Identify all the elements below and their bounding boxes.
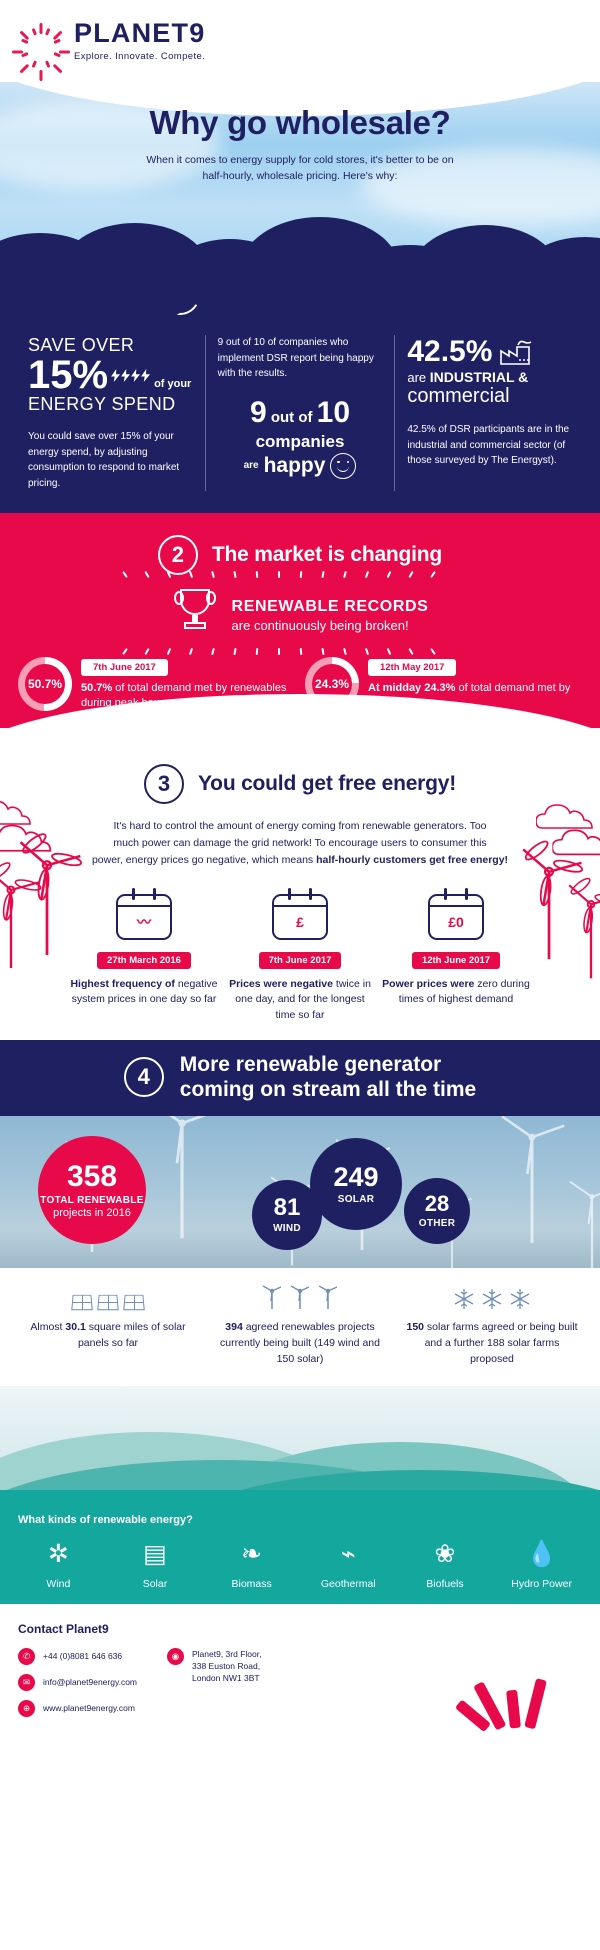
kind-label: Biomass bbox=[206, 1578, 298, 1590]
hills-illustration bbox=[0, 1386, 600, 1504]
wind-turbine-icon bbox=[565, 1175, 600, 1268]
donut-date: 12th May 2017 bbox=[368, 659, 456, 676]
section-market-changing: 2 The market is changing RENEWABLE RECOR… bbox=[0, 513, 600, 728]
sunburst-icon bbox=[452, 1648, 562, 1734]
bubble-label: TOTAL RENEWABLE bbox=[40, 1195, 143, 1206]
lightning-bolt-icon bbox=[111, 369, 150, 382]
renewable-stat: Almost 30.1 square miles of solar panels… bbox=[12, 1284, 204, 1367]
footer-address-row: ◉ Planet9, 3rd Floor, 338 Euston Road, L… bbox=[167, 1648, 261, 1685]
card-date: 7th June 2017 bbox=[259, 952, 342, 969]
renewable-count-bubble: 249SOLAR bbox=[310, 1138, 402, 1230]
hill-base bbox=[0, 1490, 600, 1504]
renewable-stat: 150 solar farms agreed or being built an… bbox=[396, 1284, 588, 1367]
bubble-sublabel: projects in 2016 bbox=[53, 1207, 131, 1219]
save-percent: 15% bbox=[28, 356, 108, 394]
location-pin-icon: ◉ bbox=[167, 1648, 184, 1665]
stat-companies: companies bbox=[218, 432, 383, 452]
save-ofyour: of your bbox=[154, 379, 191, 389]
kind-label: Solar bbox=[109, 1578, 201, 1590]
brand-text: PLANET9 Explore. Innovate. Compete. bbox=[74, 20, 205, 62]
section3-number: 3 bbox=[144, 764, 184, 804]
sunburst-icon bbox=[18, 18, 64, 64]
kind-label: Biofuels bbox=[399, 1578, 491, 1590]
stat-icons bbox=[212, 1284, 388, 1310]
wind-turbine-icon bbox=[317, 1284, 339, 1310]
wind-turbine-icon bbox=[142, 1116, 222, 1247]
card-text: Prices were negative twice in one day, a… bbox=[226, 977, 374, 1024]
renewable-stats: Almost 30.1 square miles of solar panels… bbox=[0, 1268, 600, 1385]
kind-item-wind[interactable]: ✲Wind bbox=[12, 1538, 104, 1590]
stat-happy: happy bbox=[264, 454, 326, 478]
save-energy-spend: ENERGY SPEND bbox=[28, 394, 193, 415]
section-free-energy: 3 You could get free energy! It's hard t… bbox=[0, 728, 600, 1040]
free-energy-cards: 〰27th March 2016Highest frequency of neg… bbox=[0, 870, 600, 1024]
section4-header: 4 More renewable generator coming on str… bbox=[0, 1040, 600, 1116]
renewable-count-bubble: 28OTHER bbox=[404, 1178, 470, 1244]
dsr-body: 9 out of 10 of companies who implement D… bbox=[218, 335, 383, 382]
bubble-label: OTHER bbox=[419, 1218, 456, 1229]
donut-date: 7th June 2017 bbox=[81, 659, 168, 676]
wind-turbine-icon bbox=[261, 1284, 283, 1310]
card-text: Power prices were zero during times of h… bbox=[382, 977, 530, 1009]
wind-turbine-icon bbox=[289, 1284, 311, 1310]
renewable-stat: 394 agreed renewables projects currently… bbox=[204, 1284, 396, 1367]
phone-icon: ✆ bbox=[18, 1648, 35, 1665]
kind-item-geothermal[interactable]: ⌁Geothermal bbox=[302, 1538, 394, 1590]
wind-farm-photo: 358TOTAL RENEWABLEprojects in 201681WIND… bbox=[0, 1116, 600, 1268]
footer-website: www.planet9energy.com bbox=[43, 1702, 135, 1714]
bubble-label: WIND bbox=[273, 1223, 301, 1234]
brand-name: PLANET9 bbox=[74, 20, 205, 47]
solar-panel-icon bbox=[97, 1295, 119, 1310]
kind-label: Geothermal bbox=[302, 1578, 394, 1590]
kind-item-solar[interactable]: ▤Solar bbox=[109, 1538, 201, 1590]
footer-address-col: ◉ Planet9, 3rd Floor, 338 Euston Road, L… bbox=[167, 1648, 261, 1726]
kinds-title: What kinds of renewable energy? bbox=[0, 1514, 600, 1526]
calendar-waveform-icon: 〰 bbox=[116, 888, 172, 940]
stat-outof: out of bbox=[271, 409, 313, 426]
footer-phone: +44 (0)8081 646 636 bbox=[43, 1650, 122, 1662]
card-text: Highest frequency of negative system pri… bbox=[70, 977, 218, 1009]
renewable-kinds-band: What kinds of renewable energy? ✲Wind▤So… bbox=[0, 1504, 600, 1604]
snowflake-icon bbox=[481, 1288, 503, 1310]
footer-email: info@planet9energy.com bbox=[43, 1676, 137, 1688]
footer-phone-row[interactable]: ✆ +44 (0)8081 646 636 bbox=[18, 1648, 137, 1665]
industrial-body: 42.5% of DSR participants are in the ind… bbox=[407, 422, 572, 469]
industrial-percent: 42.5% bbox=[407, 335, 492, 369]
section3-header: 3 You could get free energy! bbox=[0, 750, 600, 804]
free-energy-card: £012th June 2017Power prices were zero d… bbox=[382, 888, 530, 1024]
globe-leaf-icon: ❀ bbox=[399, 1538, 491, 1572]
stat-text: 394 agreed renewables projects currently… bbox=[212, 1320, 388, 1367]
stat-icons bbox=[20, 1284, 196, 1310]
free-energy-card: £7th June 2017Prices were negative twice… bbox=[226, 888, 374, 1024]
stat-text: 150 solar farms agreed or being built an… bbox=[404, 1320, 580, 1367]
section-demand-side-response: 1 Demand side response SAVE OVER 15% of … bbox=[0, 261, 600, 513]
save-percent-row: 15% of your bbox=[28, 356, 193, 394]
bubble-value: 28 bbox=[425, 1193, 449, 1215]
geothermal-icon: ⌁ bbox=[302, 1538, 394, 1572]
bubble-label: SOLAR bbox=[338, 1194, 375, 1205]
renewable-count-bubble: 358TOTAL RENEWABLEprojects in 2016 bbox=[38, 1136, 146, 1244]
stat-nine: 9 bbox=[250, 396, 267, 429]
section2-title: The market is changing bbox=[212, 543, 442, 567]
brand-tagline: Explore. Innovate. Compete. bbox=[74, 51, 205, 62]
section4-title: More renewable generator coming on strea… bbox=[180, 1052, 476, 1102]
stat-are: are bbox=[244, 460, 259, 471]
wind-turbine-icon: ✲ bbox=[12, 1538, 104, 1572]
stat-icons bbox=[404, 1284, 580, 1310]
kind-item-biofuels[interactable]: ❀Biofuels bbox=[399, 1538, 491, 1590]
factory-icon bbox=[498, 339, 532, 365]
wind-turbine-icon bbox=[495, 1116, 569, 1251]
water-drop-icon: 💧 bbox=[496, 1538, 588, 1572]
kind-item-biomass[interactable]: ❧Biomass bbox=[206, 1538, 298, 1590]
leaf-icon: ❧ bbox=[206, 1538, 298, 1572]
card-date: 12th June 2017 bbox=[412, 952, 500, 969]
commercial-line: commercial bbox=[407, 385, 572, 408]
kinds-row: ✲Wind▤Solar❧Biomass⌁Geothermal❀Biofuels💧… bbox=[0, 1526, 600, 1590]
calendar-falling-price-icon: £ bbox=[272, 888, 328, 940]
page-title: Why go wholesale? bbox=[0, 104, 600, 142]
envelope-icon: ✉ bbox=[18, 1674, 35, 1691]
stat-text: Almost 30.1 square miles of solar panels… bbox=[20, 1320, 196, 1352]
stat-ten: 10 bbox=[317, 396, 350, 429]
brand-header: PLANET9 Explore. Innovate. Compete. bbox=[0, 0, 600, 82]
footer-website-row[interactable]: ⊕ www.planet9energy.com bbox=[18, 1700, 137, 1717]
stat-save-over: SAVE OVER 15% of your ENERGY SPEND You c… bbox=[16, 335, 205, 491]
infographic-page: PLANET9 Explore. Innovate. Compete. Why … bbox=[0, 0, 600, 1950]
smiley-face-icon bbox=[330, 453, 356, 479]
snowflake-icon bbox=[453, 1288, 475, 1310]
section2-number: 2 bbox=[158, 535, 198, 575]
section2-header: 2 The market is changing bbox=[0, 521, 600, 575]
bubble-value: 249 bbox=[333, 1164, 378, 1191]
renewable-records-banner: RENEWABLE RECORDS are continuously being… bbox=[0, 589, 600, 641]
bubble-value: 358 bbox=[67, 1162, 117, 1192]
footer: Contact Planet9 ✆ +44 (0)8081 646 636 ✉ … bbox=[0, 1604, 600, 1744]
globe-icon: ⊕ bbox=[18, 1700, 35, 1717]
solar-panel-icon: ▤ bbox=[109, 1538, 201, 1572]
solar-panel-icon bbox=[71, 1295, 93, 1310]
kind-label: Wind bbox=[12, 1578, 104, 1590]
trophy-icon bbox=[172, 589, 218, 641]
nine-out-of-ten-graphic: 9 out of 10 companies are happy bbox=[218, 396, 383, 479]
section3-title: You could get free energy! bbox=[198, 772, 456, 796]
footer-email-row[interactable]: ✉ info@planet9energy.com bbox=[18, 1674, 137, 1691]
free-energy-card: 〰27th March 2016Highest frequency of neg… bbox=[70, 888, 218, 1024]
footer-address: Planet9, 3rd Floor, 338 Euston Road, Lon… bbox=[192, 1648, 261, 1685]
kind-item-hydro-power[interactable]: 💧Hydro Power bbox=[496, 1538, 588, 1590]
snowflake-icon bbox=[509, 1288, 531, 1310]
donut-value: 24.3% bbox=[315, 677, 349, 691]
save-body: You could save over 15% of your energy s… bbox=[28, 429, 193, 491]
card-date: 27th March 2016 bbox=[97, 952, 191, 969]
hero-subtitle: When it comes to energy supply for cold … bbox=[0, 152, 600, 185]
calendar-zero-pounds-icon: £0 bbox=[428, 888, 484, 940]
footer-contact-col: ✆ +44 (0)8081 646 636 ✉ info@planet9ener… bbox=[18, 1648, 137, 1726]
stat-nine-out-of-ten: 9 out of 10 of companies who implement D… bbox=[205, 335, 395, 491]
solar-panel-icon bbox=[123, 1295, 145, 1310]
donut-value: 50.7% bbox=[28, 677, 62, 691]
section4-number: 4 bbox=[124, 1057, 164, 1097]
cloud-silhouette bbox=[0, 219, 600, 279]
footer-heading: Contact Planet9 bbox=[18, 1622, 600, 1636]
stat-industrial-commercial: 42.5% are INDUSTRIAL & commercial 42.5% … bbox=[394, 335, 584, 491]
bubble-value: 81 bbox=[274, 1196, 301, 1220]
industrial-percent-row: 42.5% bbox=[407, 335, 572, 369]
kind-label: Hydro Power bbox=[496, 1578, 588, 1590]
donut-chart-icon: 50.7% bbox=[18, 657, 72, 711]
industrial-line: are INDUSTRIAL & bbox=[407, 369, 572, 385]
